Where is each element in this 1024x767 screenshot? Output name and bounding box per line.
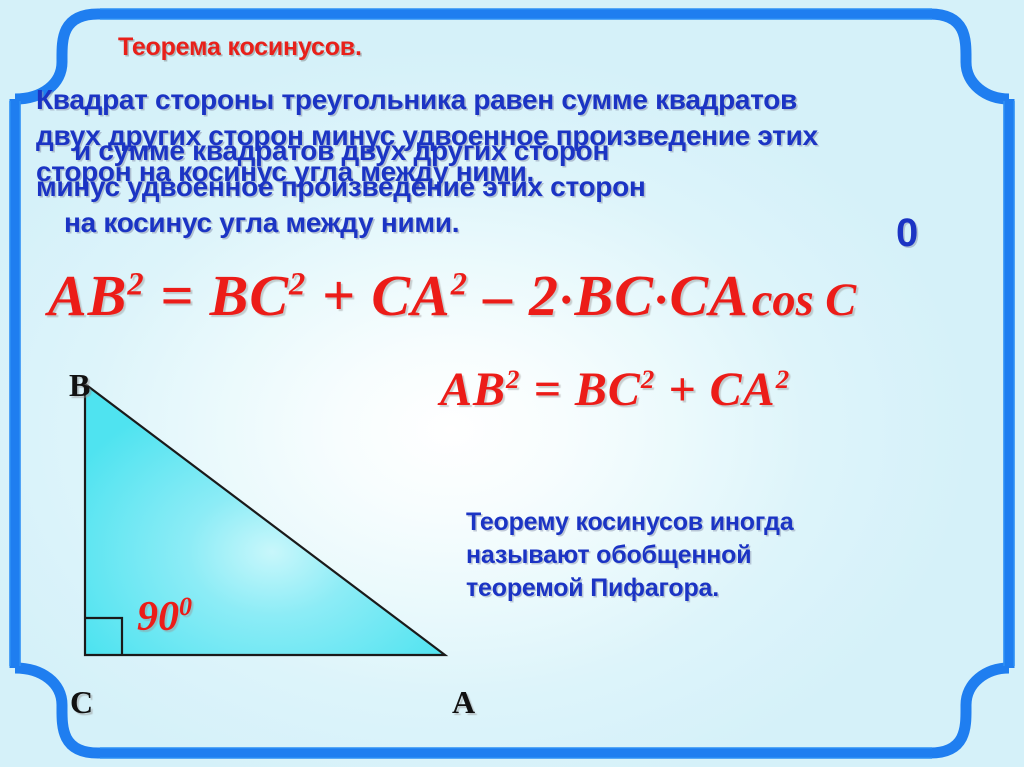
right-triangle-figure [55, 372, 475, 692]
vertex-label-c: C [70, 684, 93, 721]
pythagoras-note: Теорему косинусов иногда называют обобще… [466, 506, 794, 605]
triangle-svg [55, 372, 475, 692]
formula-cosine-term: cos C [749, 275, 856, 326]
formula-term-ca-exponent: 2 [451, 267, 468, 303]
angle-degree-symbol: 0 [179, 592, 192, 621]
second-formula-term-bc: BC [575, 363, 641, 416]
vertex-label-a: A [452, 684, 475, 721]
formula-equals: = [160, 263, 194, 328]
overlay-line-2: минус удвоенное произведение этих сторон [36, 169, 646, 205]
formula-factor-bc: BC [575, 263, 654, 328]
formula-law-of-cosines: AB2 = BC2 + CA2 – 2•BC•CAcos C [48, 262, 856, 329]
second-formula-term-bc-exponent: 2 [641, 364, 655, 394]
formula-lhs-exponent: 2 [127, 267, 144, 303]
note-line-2: называют обобщенной [466, 539, 794, 572]
theorem-statement-overlay: и сумме квадратов двух других сторон мин… [36, 133, 646, 241]
formula-term-bc: BC [210, 263, 289, 328]
angle-value-label: 900 [137, 592, 192, 641]
formula-multiply-dot-1: • [559, 283, 575, 317]
overlay-line-3: на косинус угла между ними. [36, 205, 646, 241]
formula-factor-ca: CA [669, 263, 748, 328]
second-formula-term-ca-exponent: 2 [776, 364, 790, 394]
second-formula-term-ca: CA [710, 363, 776, 416]
formula-pythagorean: AB2 = BC2 + CA2 [440, 362, 790, 417]
formula-term-bc-exponent: 2 [289, 267, 306, 303]
formula-coefficient-two: 2 [529, 263, 559, 328]
formula-multiply-dot-2: • [654, 283, 670, 317]
note-line-3: теоремой Пифагора. [466, 572, 794, 605]
slide-title: Теорема косинусов. [118, 33, 362, 62]
slide-canvas: Теорема косинусов. Квадрат стороны треуг… [0, 0, 1024, 767]
statement-line-1: Квадрат стороны треугольника равен сумме… [36, 82, 818, 118]
overlay-line-1: и сумме квадратов двух других сторон [36, 133, 646, 169]
zero-badge: 0 [896, 211, 918, 256]
angle-number: 90 [137, 594, 179, 640]
formula-lhs: AB [48, 263, 127, 328]
vertex-label-b: B [69, 367, 90, 404]
formula-plus: + [322, 263, 356, 328]
note-line-1: Теорему косинусов иногда [466, 506, 794, 539]
second-formula-plus: + [668, 363, 696, 416]
second-formula-equals: = [533, 363, 561, 416]
formula-term-ca: CA [371, 263, 450, 328]
formula-minus: – [483, 263, 513, 328]
second-formula-lhs-exponent: 2 [506, 364, 520, 394]
